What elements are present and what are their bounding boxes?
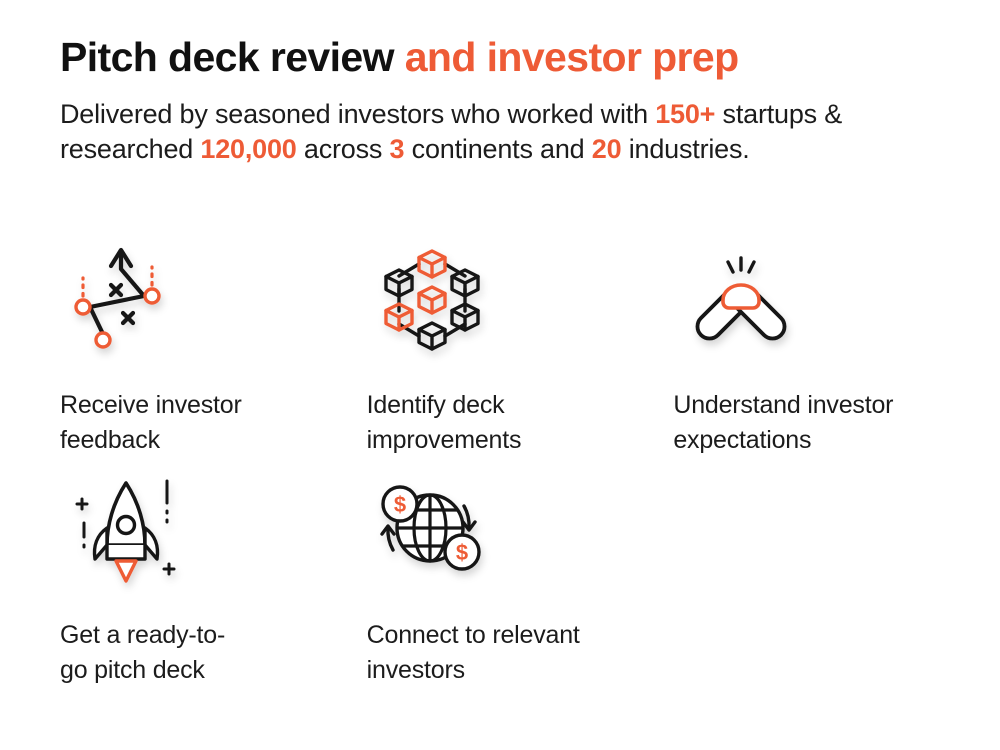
rocket-launch-icon xyxy=(60,470,200,590)
header: Pitch deck review and investor prep Deli… xyxy=(60,34,960,167)
subtitle-segment-3: across xyxy=(297,134,390,164)
blockchain-cubes-icon xyxy=(367,240,507,360)
stat-researched-count: 120,000 xyxy=(200,134,296,164)
strategy-path-icon xyxy=(60,240,200,360)
feature-item-understand-investor-expectations: Understand investor expectations xyxy=(673,240,980,458)
page-title-accent: and investor prep xyxy=(405,34,739,80)
feature-item-receive-investor-feedback: Receive investor feedback xyxy=(60,240,367,458)
feature-item-get-ready-to-go-pitch-deck: Get a ready-to- go pitch deck xyxy=(60,470,367,688)
subtitle-segment-5: industries. xyxy=(621,134,749,164)
feature-label: Receive investor feedback xyxy=(60,388,242,458)
feature-item-connect-to-relevant-investors: $ $ Connect to relevant investors xyxy=(367,470,674,688)
pitch-deck-feature-slide: Pitch deck review and investor prep Deli… xyxy=(0,0,1000,750)
page-title: Pitch deck review and investor prep xyxy=(60,34,960,81)
svg-text:$: $ xyxy=(456,540,468,565)
page-title-primary: Pitch deck review xyxy=(60,34,394,80)
stat-industries-count: 20 xyxy=(592,134,622,164)
page-subtitle: Delivered by seasoned investors who work… xyxy=(60,97,890,167)
feature-label: Connect to relevant investors xyxy=(367,618,580,688)
subtitle-segment-1: Delivered by seasoned investors who work… xyxy=(60,99,655,129)
global-currency-exchange-icon: $ $ xyxy=(367,470,507,590)
svg-text:$: $ xyxy=(394,492,406,517)
feature-row-bottom: Get a ready-to- go pitch deck xyxy=(60,470,980,690)
subtitle-segment-4: continents and xyxy=(404,134,591,164)
feature-label: Get a ready-to- go pitch deck xyxy=(60,618,225,688)
stat-continents-count: 3 xyxy=(390,134,405,164)
feature-item-identify-deck-improvements: Identify deck improvements xyxy=(367,240,674,458)
connecting-pieces-icon xyxy=(673,240,813,360)
feature-row-top: Receive investor feedback xyxy=(60,240,980,470)
feature-label: Identify deck improvements xyxy=(367,388,522,458)
feature-grid: Receive investor feedback xyxy=(60,240,980,690)
stat-startups-count: 150+ xyxy=(655,99,715,129)
feature-label: Understand investor expectations xyxy=(673,388,893,458)
